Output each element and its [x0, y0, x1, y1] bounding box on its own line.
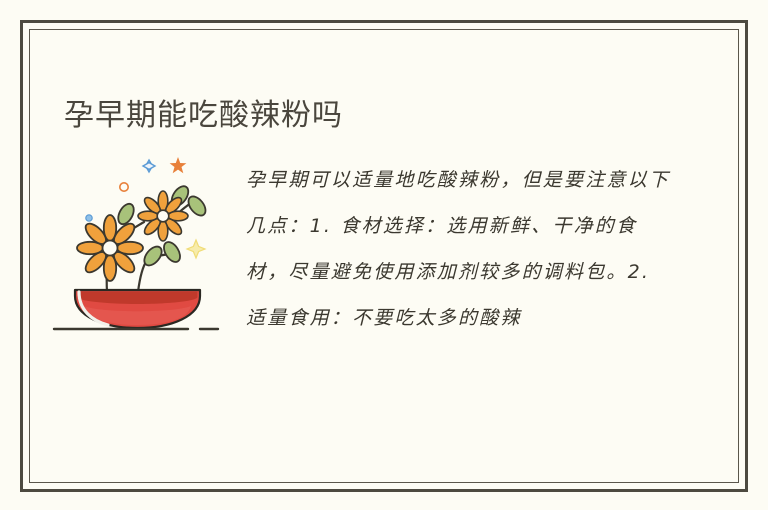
article-card: 孕早期能吃酸辣粉吗	[20, 20, 748, 492]
bowl-icon	[75, 290, 200, 328]
flower-large-icon	[77, 215, 143, 281]
flowers-in-bowl-illustration	[48, 144, 238, 334]
article-body: 孕早期可以适量地吃酸辣粉，但是要注意以下几点：1. 食材选择：选用新鲜、干净的食…	[246, 157, 676, 341]
article-content: 孕早期可以适量地吃酸辣粉，但是要注意以下几点：1. 食材选择：选用新鲜、干净的食…	[30, 138, 738, 360]
flower-small-icon	[138, 191, 188, 241]
page-title: 孕早期能吃酸辣粉吗	[64, 90, 343, 134]
article-card-inner-border: 孕早期能吃酸辣粉吗	[29, 29, 739, 483]
